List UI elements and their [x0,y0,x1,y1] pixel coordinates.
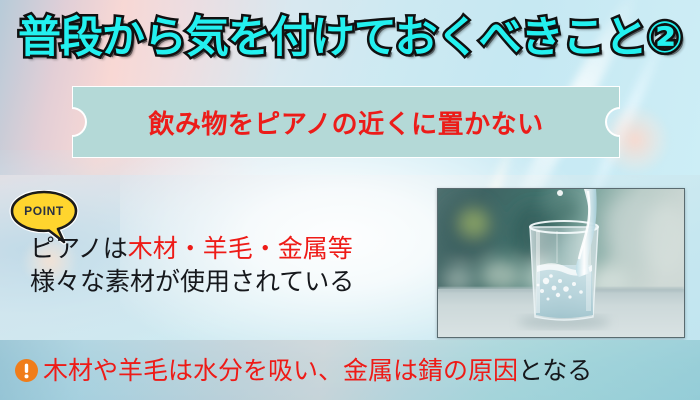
body-line1-highlight: 木材・羊毛・金属等 [128,234,353,263]
bottom-warning-plain: となる [518,356,592,385]
subtitle-banner-text: 飲み物をピアノの近くに置かない [72,86,620,158]
water-pouring-into-glass-image [438,189,684,337]
water-glass-photo [437,188,685,338]
warning-exclamation-icon [14,358,39,383]
point-badge-label: POINT [8,190,80,232]
slide-root: 普段から気を付けておくべきこと② 飲み物をピアノの近くに置かない POINT ピ… [0,0,700,400]
body-text-line-1: ピアノは木材・羊毛・金属等 [30,232,442,265]
bottom-warning-bar: 木材や羊毛は水分を吸い、金属は錆の原因となる [0,340,700,400]
subtitle-banner: 飲み物をピアノの近くに置かない [72,86,620,158]
page-title: 普段から気を付けておくべきこと② [0,8,700,68]
body-text: ピアノは木材・羊毛・金属等 様々な素材が使用されている [30,232,442,298]
body-text-line-2: 様々な素材が使用されている [30,265,442,298]
bottom-warning-highlight: 木材や羊毛は水分を吸い、金属は錆の原因 [43,356,518,385]
body-line1-plain: ピアノは [30,234,128,263]
page-title-text: 普段から気を付けておくべきこと② [18,17,682,60]
bottom-warning-text: 木材や羊毛は水分を吸い、金属は錆の原因となる [43,358,592,383]
